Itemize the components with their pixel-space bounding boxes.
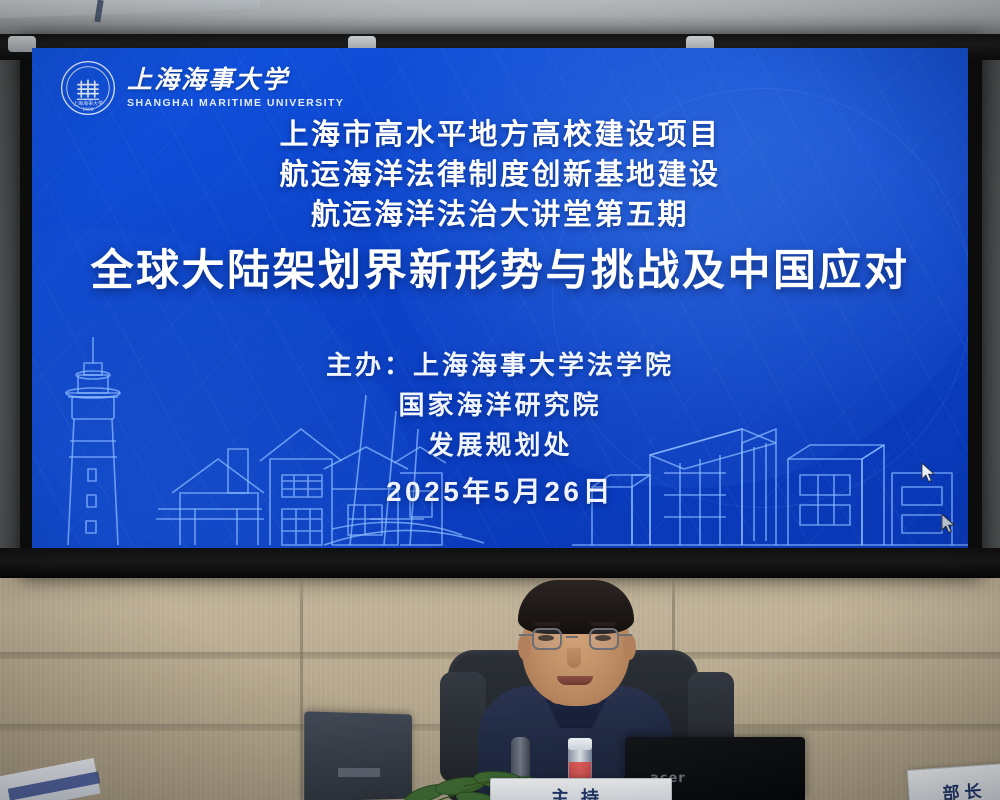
slide-main-title: 全球大陆架划界新形势与挑战及中国应对	[32, 246, 968, 298]
nameplate-center: 主持	[490, 778, 672, 800]
slide-organizer-1: 主办：上海海事大学法学院	[32, 348, 968, 383]
eyeglasses-temple-left	[519, 634, 533, 636]
slide-organizer-2: 国家海洋研究院	[32, 388, 968, 423]
slide-date: 2025年5月26日	[32, 470, 968, 510]
mouse-cursor-on-screen[interactable]	[921, 462, 936, 484]
laptop-huawei-logo-icon	[338, 768, 380, 777]
speaker-nose	[567, 648, 581, 668]
water-bottle-cap	[568, 738, 592, 750]
speaker-ear-right	[623, 634, 636, 660]
screenshot-stage: 上海海事大学 1909 上海海事大学 SHANGHAI MARITIME UNI…	[0, 0, 1000, 800]
slide-organizer-3: 发展规划处	[32, 428, 968, 463]
slide-headline-3: 航运海洋法治大讲堂第五期	[32, 196, 968, 235]
speaker-brow-left	[534, 622, 560, 626]
laptop-huawei[interactable]	[304, 711, 412, 800]
slide-text-block: 上海市高水平地方高校建设项目 航运海洋法律制度创新基地建设 航运海洋法治大讲堂第…	[32, 48, 968, 553]
speaker-ear-left	[518, 634, 531, 660]
wall-seam-left	[300, 575, 303, 800]
presentation-slide: 上海海事大学 1909 上海海事大学 SHANGHAI MARITIME UNI…	[32, 48, 968, 553]
eyeglasses-lens-left	[532, 628, 562, 650]
speaker-mouth	[557, 676, 593, 685]
nameplate-right-text: 部长	[909, 774, 1000, 800]
eyeglasses-bridge	[566, 636, 578, 638]
slide-headline-2: 航运海洋法律制度创新基地建设	[32, 156, 968, 195]
mouse-cursor-on-wall[interactable]	[941, 513, 956, 535]
eyeglasses-lens-right	[589, 628, 619, 650]
display-bezel-bottom	[0, 548, 1000, 578]
slide-headline-1: 上海市高水平地方高校建设项目	[32, 116, 968, 155]
speaker-brow-right	[590, 622, 616, 626]
nameplate-center-text: 主持	[491, 784, 671, 800]
eyeglasses-temple-right	[618, 634, 632, 636]
